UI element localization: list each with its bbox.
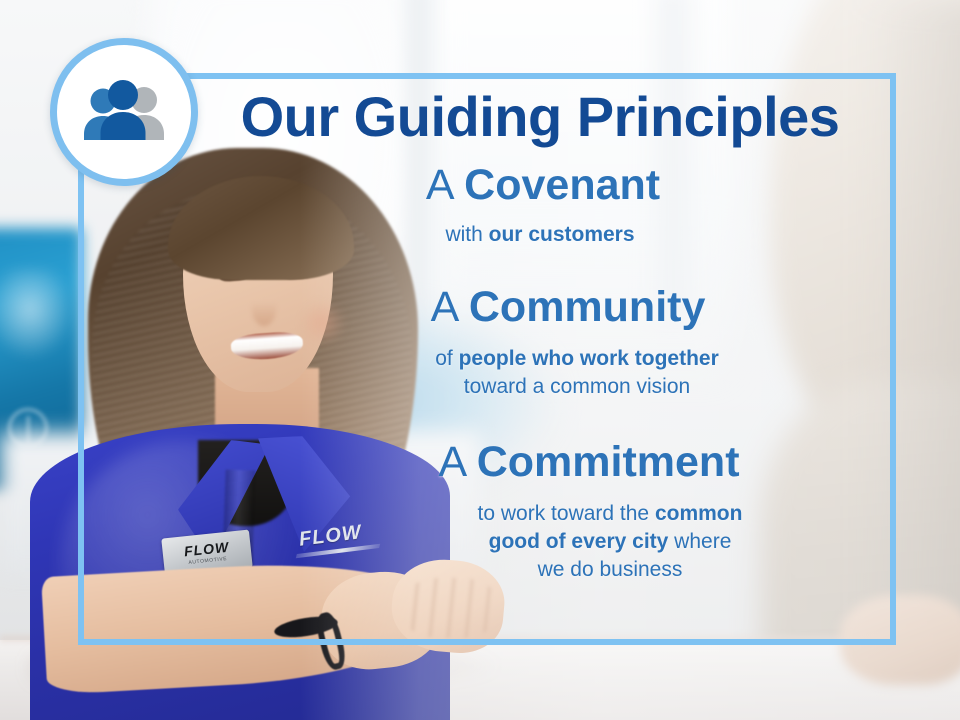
display-car-highlight xyxy=(0,268,74,360)
principle-community: A Community of people who work together … xyxy=(200,283,880,401)
customer-hand xyxy=(840,595,960,685)
principle-community-keyword: Community xyxy=(469,283,706,331)
promo-graphic: FLOW AUTOMOTIVE FLOW xyxy=(0,0,960,720)
principle-community-lead: A xyxy=(431,283,469,331)
principle-covenant-keyword: Covenant xyxy=(464,161,660,209)
principle-covenant-lead: A xyxy=(426,161,464,209)
text-content: Our Guiding Principles A Covenant with o… xyxy=(200,88,880,584)
principle-commitment: A Commitment to work toward the common g… xyxy=(200,438,880,583)
commitment-sub-regular-1: to work toward the xyxy=(478,502,655,525)
people-group-icon xyxy=(76,76,172,148)
commitment-sub-regular-2: where xyxy=(668,530,731,553)
principle-covenant: A Covenant with our customers xyxy=(200,161,880,249)
commitment-sub-bold-1: common xyxy=(655,502,743,525)
community-sub-line2: toward a common vision xyxy=(464,375,690,398)
principle-community-heading: A Community xyxy=(256,283,880,331)
community-sub-regular: of xyxy=(435,347,458,370)
principle-commitment-keyword: Commitment xyxy=(477,438,740,486)
principle-commitment-lead: A xyxy=(438,438,476,486)
principle-commitment-subtext: to work toward the common good of every … xyxy=(340,500,880,583)
page-title: Our Guiding Principles xyxy=(200,88,880,147)
principle-covenant-subtext: with our customers xyxy=(200,221,880,249)
covenant-sub-regular: with xyxy=(445,223,488,246)
principle-covenant-heading: A Covenant xyxy=(206,161,880,209)
people-badge xyxy=(50,38,198,186)
commitment-sub-line3: we do business xyxy=(538,558,683,581)
principle-commitment-heading: A Commitment xyxy=(298,438,880,486)
principle-community-subtext: of people who work together toward a com… xyxy=(274,345,880,400)
community-sub-bold: people who work together xyxy=(459,347,719,370)
commitment-sub-bold-2: good of every city xyxy=(489,530,669,553)
covenant-sub-bold: our customers xyxy=(489,223,635,246)
hand-knuckles xyxy=(402,578,498,638)
